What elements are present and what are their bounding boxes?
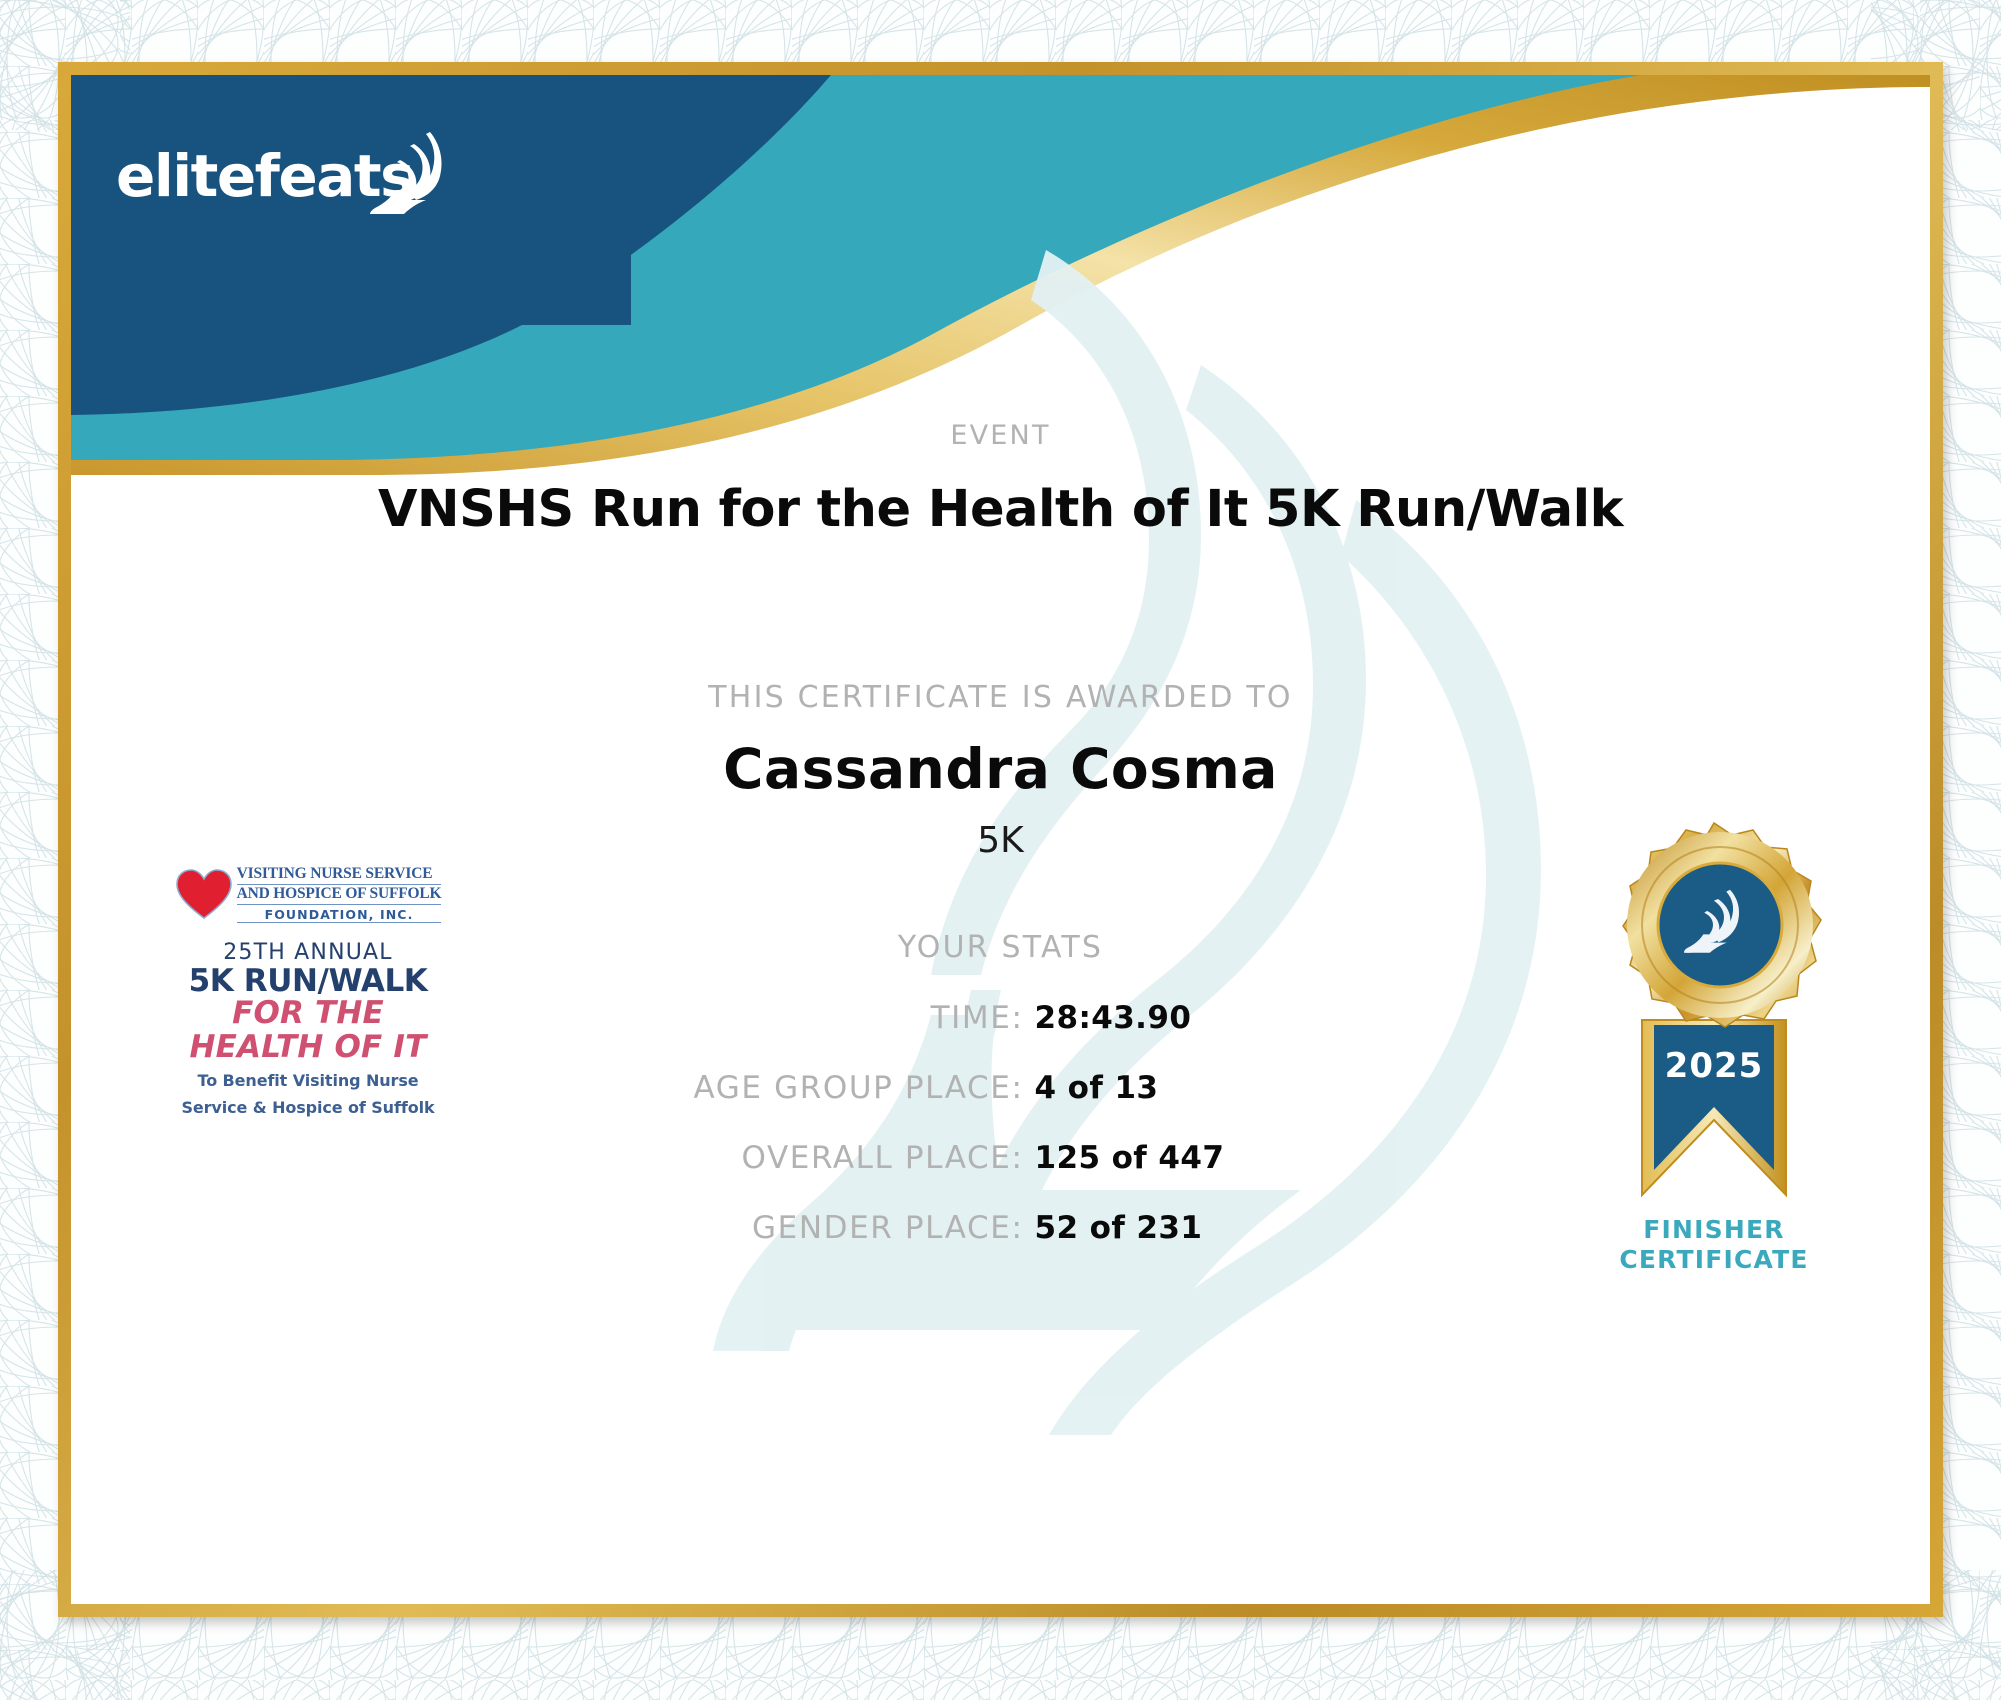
stat-value-overall-place: 125 of 447	[1035, 1140, 1465, 1176]
sponsor-org-line1: VISITING NURSE SERVICE	[237, 865, 442, 885]
sponsor-org-line2: AND HOSPICE OF SUFFOLK	[237, 885, 442, 905]
certificate-content: EVENT VNSHS Run for the Health of It 5K …	[71, 75, 1930, 1604]
sponsor-for-the: FOR THE	[153, 997, 463, 1030]
event-name: VNSHS Run for the Health of It 5K Run/Wa…	[71, 480, 1930, 539]
medal-graphic: 2025	[1564, 805, 1864, 1225]
sponsor-org-line3: FOUNDATION, INC.	[237, 907, 442, 923]
finisher-caption-line2: CERTIFICATE	[1564, 1245, 1864, 1275]
sponsor-health-of-it: HEALTH OF IT	[153, 1031, 463, 1064]
certificate-inner-canvas: elitefeats EVENT VNSHS Run for the Healt…	[71, 75, 1930, 1604]
sponsor-logo-vnshs: VISITING NURSE SERVICE AND HOSPICE OF SU…	[153, 865, 463, 1118]
heart-icon	[175, 868, 233, 920]
certificate-gold-border: elitefeats EVENT VNSHS Run for the Healt…	[58, 62, 1943, 1617]
event-label: EVENT	[71, 420, 1930, 451]
sponsor-run-walk: 5K RUN/WALK	[153, 965, 463, 998]
sponsor-benefit-line2: Service & Hospice of Suffolk	[153, 1098, 463, 1118]
stat-key-overall-place: OVERALL PLACE:	[537, 1140, 1035, 1176]
certificate-page: elitefeats EVENT VNSHS Run for the Healt…	[0, 0, 2001, 1700]
recipient-name: Cassandra Cosma	[71, 737, 1930, 801]
finisher-medal-badge: 2025	[1564, 805, 1864, 1305]
medal-starburst	[1623, 823, 1821, 1027]
stat-value-age-group-place: 4 of 13	[1035, 1070, 1465, 1106]
sponsor-org-lockup: VISITING NURSE SERVICE AND HOSPICE OF SU…	[153, 865, 463, 923]
badge-year: 2025	[1665, 1046, 1764, 1086]
stat-key-gender-place: GENDER PLACE:	[537, 1210, 1035, 1246]
sponsor-benefit-line1: To Benefit Visiting Nurse	[153, 1071, 463, 1091]
stat-value-gender-place: 52 of 231	[1035, 1210, 1465, 1246]
stat-key-time: TIME:	[537, 1000, 1035, 1036]
stat-key-age-group-place: AGE GROUP PLACE:	[537, 1070, 1035, 1106]
finisher-caption: FINISHER CERTIFICATE	[1564, 1215, 1864, 1274]
finisher-caption-line1: FINISHER	[1564, 1215, 1864, 1245]
sponsor-org-lines: VISITING NURSE SERVICE AND HOSPICE OF SU…	[237, 865, 442, 923]
stat-value-time: 28:43.90	[1035, 1000, 1465, 1036]
sponsor-annual: 25TH ANNUAL	[153, 940, 463, 965]
awarded-to-label: THIS CERTIFICATE IS AWARDED TO	[71, 680, 1930, 715]
